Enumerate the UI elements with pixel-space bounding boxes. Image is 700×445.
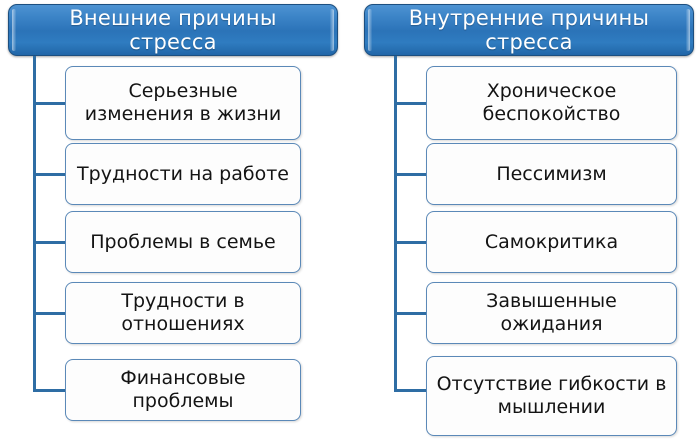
node-internal-2[interactable]: Пессимизм [426, 143, 677, 205]
connector-elbow-external-5 [33, 389, 66, 392]
connector-elbow-internal-3 [394, 241, 427, 244]
node-external-1[interactable]: Серьезные изменения в жизни [65, 66, 301, 140]
node-external-1-label: Серьезные изменения в жизни [66, 80, 300, 126]
node-internal-5[interactable]: Отсутствие гибкости в мышлении [426, 356, 677, 436]
connector-trunk-internal [394, 56, 397, 392]
node-external-5[interactable]: Финансовые проблемы [65, 359, 301, 421]
node-external-2-label: Трудности на работе [69, 163, 297, 186]
stress-causes-diagram: Внешние причины стресса Серьезные измене… [0, 0, 700, 445]
node-internal-3[interactable]: Самокритика [426, 211, 677, 273]
connector-elbow-internal-1 [394, 102, 427, 105]
root-node-external-causes-label: Внешние причины стресса [9, 6, 337, 54]
node-internal-3-label: Самокритика [477, 231, 626, 254]
node-internal-2-label: Пессимизм [488, 163, 614, 186]
node-internal-4[interactable]: Завышенные ожидания [426, 282, 677, 344]
node-internal-5-label: Отсутствие гибкости в мышлении [427, 373, 676, 419]
connector-elbow-internal-2 [394, 173, 427, 176]
root-node-external-causes[interactable]: Внешние причины стресса [8, 4, 338, 56]
diagram-column-internal: Внутренние причины стресса Хроническое б… [360, 0, 700, 445]
node-internal-1-label: Хроническое беспокойство [427, 80, 676, 126]
connector-elbow-external-2 [33, 173, 66, 176]
node-external-3[interactable]: Проблемы в семье [65, 211, 301, 273]
node-external-4[interactable]: Трудности в отношениях [65, 282, 301, 344]
node-external-3-label: Проблемы в семье [82, 231, 284, 254]
node-external-4-label: Трудности в отношениях [66, 290, 300, 336]
connector-elbow-internal-5 [394, 389, 427, 392]
connector-trunk-external [33, 56, 36, 392]
diagram-column-external: Внешние причины стресса Серьезные измене… [4, 0, 344, 445]
node-internal-4-label: Завышенные ожидания [427, 290, 676, 336]
root-node-internal-causes[interactable]: Внутренние причины стресса [364, 4, 694, 56]
node-external-2[interactable]: Трудности на работе [65, 143, 301, 205]
connector-elbow-external-1 [33, 102, 66, 105]
node-internal-1[interactable]: Хроническое беспокойство [426, 66, 677, 140]
connector-elbow-external-3 [33, 241, 66, 244]
node-external-5-label: Финансовые проблемы [66, 367, 300, 413]
root-node-internal-causes-label: Внутренние причины стресса [365, 6, 693, 54]
connector-elbow-external-4 [33, 312, 66, 315]
connector-elbow-internal-4 [394, 312, 427, 315]
